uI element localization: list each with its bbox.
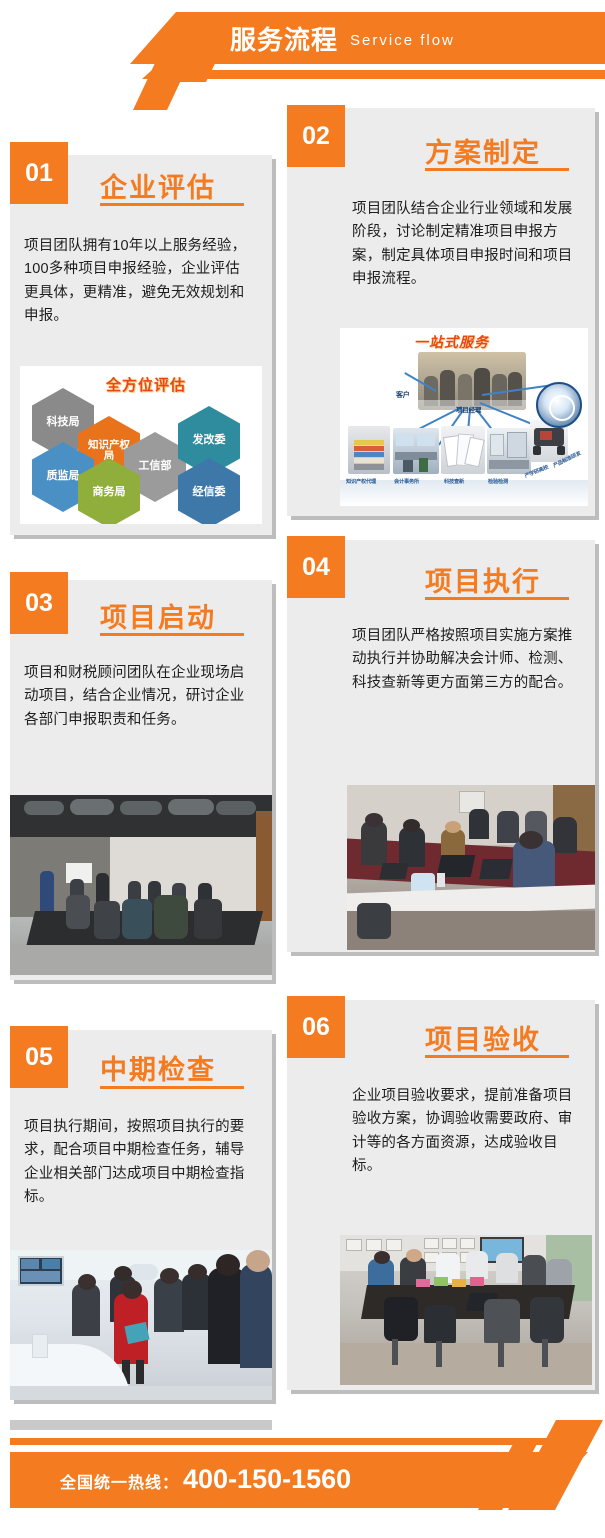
step-title-01: 企业评估 — [100, 166, 216, 205]
one-stop-service-figure: 一站式服务 客户 项目经理 — [340, 328, 588, 506]
step-photo-05 — [10, 1250, 272, 1400]
hex-diagram-title: 全方位评估 — [106, 374, 186, 395]
step-badge-04: 04 — [287, 536, 345, 598]
step-title-03: 项目启动 — [100, 596, 216, 635]
one-stop-client-label: 客户 — [396, 390, 410, 400]
one-stop-node-label-3: 检验检测 — [488, 478, 508, 485]
hex-node-6: 经信委 — [178, 458, 240, 524]
step-body-06: 企业项目验收要求，提前准备项目验收方案，协调验收需要政府、审计等的各方面资源，达… — [352, 1085, 584, 1179]
step-body-03: 项目和财税顾问团队在企业现场启动项目，结合企业情况，研讨企业各部门申报职责和任务… — [24, 662, 250, 732]
one-stop-hub-label: 项目经理 — [456, 404, 481, 414]
page-title-cn: 服务流程 — [230, 27, 338, 53]
hotline: 全国统一热线： 400-150-1560 — [60, 1464, 351, 1496]
step-title-04: 项目执行 — [425, 560, 541, 599]
step-title-02: 方案制定 — [425, 131, 541, 170]
step-body-04: 项目团队严格按照项目实施方案推动执行并协助解决会计师、检测、科技查新等更方面第三… — [352, 625, 584, 695]
page-title: 服务流程 Service flow — [230, 18, 455, 62]
one-stop-hub-image — [418, 352, 526, 410]
step-title-05: 中期检查 — [100, 1048, 216, 1087]
one-stop-title: 一站式服务 — [414, 332, 489, 352]
step-badge-01: 01 — [10, 142, 68, 204]
footer-gray-bar — [10, 1420, 272, 1430]
page-footer: 全国统一热线： 400-150-1560 — [0, 1420, 605, 1538]
step-title-rule-04 — [425, 597, 569, 600]
one-stop-node-label-0: 知识产权代理 — [346, 478, 376, 485]
hex-diagram-figure: 全方位评估 科技局 知识产权局 质监局 工信部 商务局 发改委 经信委 — [20, 366, 262, 524]
step-title-rule-05 — [100, 1086, 244, 1089]
hotline-label: 全国统一热线： — [60, 1469, 179, 1493]
one-stop-node-image-1 — [393, 428, 439, 474]
step-body-05: 项目执行期间，按照项目执行的要求，配合项目中期检查任务，辅导企业相关部门达成项目… — [24, 1116, 250, 1210]
hotline-number: 400-150-1560 — [183, 1464, 351, 1495]
step-title-rule-06 — [425, 1055, 569, 1058]
step-badge-06: 06 — [287, 996, 345, 1058]
step-title-06: 项目验收 — [425, 1018, 541, 1057]
header-underline-stripe — [142, 70, 605, 79]
page-title-en: Service flow — [350, 33, 455, 48]
one-stop-node-label-1: 会计事务所 — [394, 478, 419, 485]
one-stop-certification-seal — [536, 382, 582, 428]
diagram-floor-gradient — [340, 480, 588, 506]
step-title-rule-02 — [425, 168, 569, 171]
step-photo-03 — [10, 795, 272, 975]
step-body-02: 项目团队结合企业行业领域和发展阶段，讨论制定精准项目申报方案，制定具体项目申报时… — [352, 198, 584, 292]
step-body-01: 项目团队拥有10年以上服务经验，100多种项目申报经验，企业评估更具体，更精准，… — [24, 235, 250, 329]
one-stop-node-image-3 — [487, 428, 531, 474]
step-badge-03: 03 — [10, 572, 68, 634]
one-stop-node-label-2: 科技查新 — [444, 478, 464, 485]
step-title-rule-01 — [100, 203, 244, 206]
step-photo-04 — [347, 785, 595, 950]
step-badge-05: 05 — [10, 1026, 68, 1088]
step-photo-06 — [340, 1235, 592, 1385]
infographic-page: 服务流程 Service flow 01 企业评估 项目团队拥有10年以上服务经… — [0, 0, 605, 1538]
one-stop-node-image-0 — [348, 426, 390, 474]
step-title-rule-03 — [100, 633, 244, 636]
one-stop-node-image-2 — [441, 426, 485, 474]
step-badge-02: 02 — [287, 105, 345, 167]
footer-top-stripe — [10, 1438, 570, 1445]
page-header: 服务流程 Service flow — [0, 0, 605, 105]
